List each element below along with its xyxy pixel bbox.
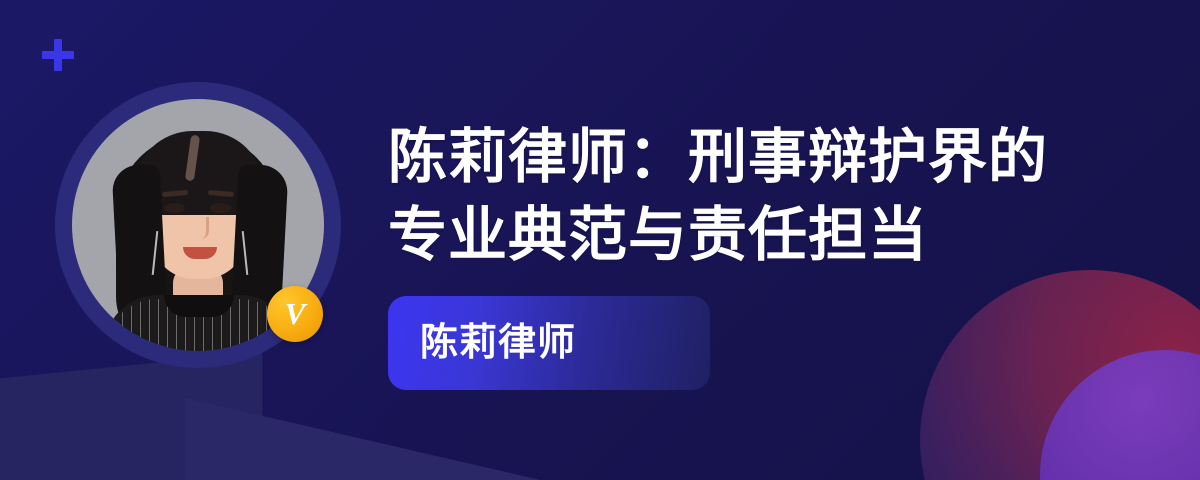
portrait-eye-right xyxy=(210,203,231,213)
name-pill-button[interactable]: 陈莉律师 xyxy=(388,296,710,390)
name-pill-label: 陈莉律师 xyxy=(420,324,576,362)
profile-banner: V 陈莉律师：刑事辩护界的 专业典范与责任担当 陈莉律师 xyxy=(0,0,1200,480)
headline-line-1: 陈莉律师：刑事辩护界的 xyxy=(388,118,1148,196)
plus-icon-bar-vertical xyxy=(54,39,62,71)
verified-badge-glyph: V xyxy=(285,298,306,329)
portrait-eye-left xyxy=(164,203,185,213)
portrait-nose xyxy=(194,217,209,239)
portrait-collar xyxy=(164,295,234,317)
headline-block: 陈莉律师：刑事辩护界的 专业典范与责任担当 陈莉律师 xyxy=(388,118,1148,390)
headline-line-2: 专业典范与责任担当 xyxy=(388,196,1148,274)
plus-icon xyxy=(42,39,74,71)
verified-badge-icon: V xyxy=(267,286,323,342)
avatar[interactable]: V xyxy=(55,82,341,368)
